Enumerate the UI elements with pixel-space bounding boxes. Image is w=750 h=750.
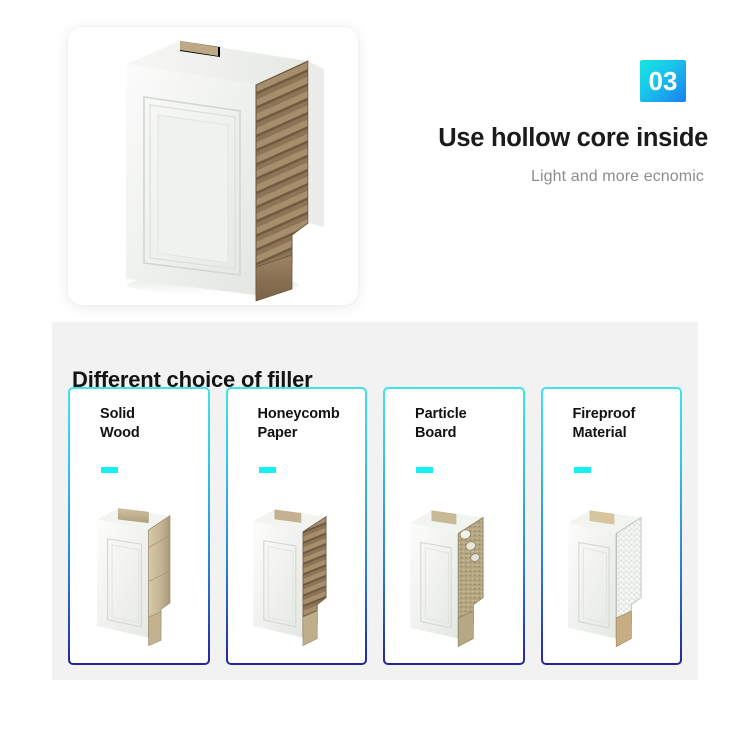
card-title-line2: Board	[415, 425, 456, 441]
accent-dash	[259, 467, 276, 473]
filler-options-panel: Different choice of filler Solid Wood	[52, 322, 698, 680]
card-inner: Particle Board	[387, 391, 521, 661]
honeycomb-paper-core-image	[230, 483, 364, 657]
card-inner: Honeycomb Paper	[230, 391, 364, 661]
card-inner: Solid Wood	[72, 391, 206, 661]
card-title-line1: Particle	[415, 406, 467, 422]
filler-card-fireproof-material[interactable]: Fireproof Material	[541, 387, 683, 665]
hero-text-column: 03 Use hollow core inside Light and more…	[408, 60, 708, 186]
step-number-badge: 03	[640, 60, 686, 102]
filler-card-honeycomb-paper[interactable]: Honeycomb Paper	[226, 387, 368, 665]
accent-dash	[416, 467, 433, 473]
hollow-core-door-image	[68, 27, 358, 305]
card-inner: Fireproof Material	[545, 391, 679, 661]
accent-dash	[574, 467, 591, 473]
fireproof-material-core-image	[545, 483, 679, 657]
accent-dash	[101, 467, 118, 473]
hero-heading: Use hollow core inside	[408, 124, 708, 153]
filler-card-particle-board[interactable]: Particle Board	[383, 387, 525, 665]
filler-card-solid-wood[interactable]: Solid Wood	[68, 387, 210, 665]
filler-cards-row: Solid Wood	[68, 387, 682, 657]
card-title-line1: Solid	[100, 406, 135, 422]
card-title-honeycomb-paper: Honeycomb Paper	[258, 405, 340, 443]
card-title-solid-wood: Solid Wood	[100, 405, 140, 443]
card-title-particle-board: Particle Board	[415, 405, 467, 443]
particle-board-core-image	[387, 483, 521, 657]
card-title-fireproof-material: Fireproof Material	[573, 405, 636, 443]
card-title-line1: Fireproof	[573, 406, 636, 422]
card-title-line2: Material	[573, 425, 627, 441]
hero-subheading: Light and more ecnomic	[408, 168, 708, 186]
hero-product-image-card	[68, 27, 358, 305]
card-title-line2: Paper	[258, 425, 298, 441]
card-title-line2: Wood	[100, 425, 140, 441]
hero-section: 03 Use hollow core inside Light and more…	[0, 0, 750, 322]
card-title-line1: Honeycomb	[258, 406, 340, 422]
solid-wood-core-image	[72, 483, 206, 657]
